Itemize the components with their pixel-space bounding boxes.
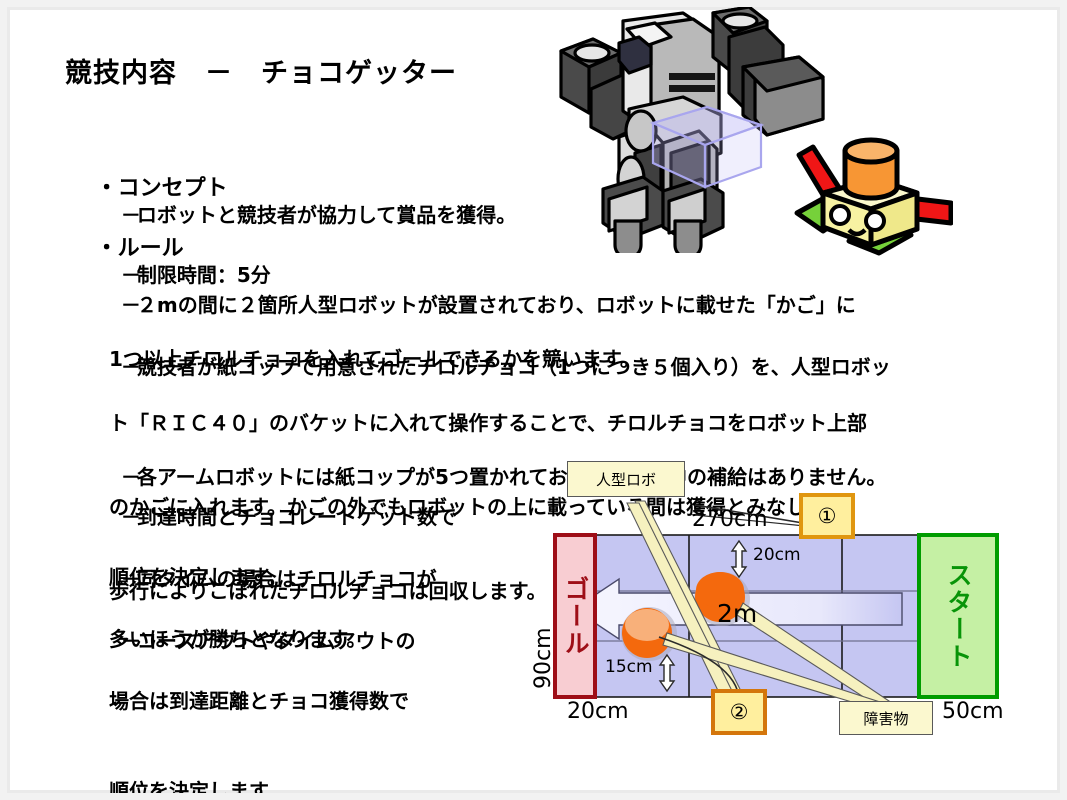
bullet-text: 到達時間とチョコレートゲット数で <box>137 505 457 529</box>
marker-1-label: ① <box>818 504 837 528</box>
bullet-text: 競技者が紙コップで用意されたチロルチョコ（1つにつき５個入り）を、人型ロボッ <box>137 355 891 379</box>
dash-marker: － <box>121 626 137 656</box>
bullet-text: 同タイムの場合はチロルチョコが <box>137 567 437 591</box>
dash-marker: － <box>121 292 137 319</box>
dimension-obstacle-top: 20cm <box>753 545 801 565</box>
course-diagram: ゴール スタート 人型ロボ 障害物 ① ② 270cm 90cm 20cm 15… <box>527 457 1067 757</box>
dimension-travel-distance: 2m <box>717 599 757 628</box>
page-title: 競技内容 － チョコゲッター <box>65 51 457 90</box>
marker-2-label: ② <box>730 700 749 724</box>
slide-canvas: 競技内容 － チョコゲッター ・コンセプト －ロボットと競技者が協力して賞品を獲… <box>0 0 1067 800</box>
humanoid-robot-callout: 人型ロボ <box>567 461 685 497</box>
start-block: スタート <box>917 533 999 699</box>
arm-robot-illustration <box>783 135 953 260</box>
bullet-text: ト「ＲＩＣ４０」のバケットに入れて操作することで、チロルチョコをロボット上部 <box>93 409 891 437</box>
dimension-start-width: 50cm <box>942 699 1004 724</box>
marker-1-box: ① <box>799 493 855 539</box>
rule-courseout: －コースアウトやタイムアウトの 場合は到達距離とチョコ獲得数で 順位を決定します… <box>93 596 415 800</box>
bullet-text: ロボットと競技者が協力して賞品を獲得。 <box>137 203 516 227</box>
marker-2-box: ② <box>711 689 767 735</box>
dimension-course-length: 270cm <box>692 507 768 532</box>
dash-marker: － <box>121 353 137 381</box>
bullet-text: ２mの間に２箇所人型ロボットが設置されており、ロボットに載せた「かご」に <box>137 293 856 317</box>
dash-marker: － <box>121 502 137 532</box>
bullet-text: 順位を決定します。 <box>93 776 415 800</box>
obstacle-callout: 障害物 <box>839 701 933 735</box>
bullet-text: コースアウトやタイムアウトの <box>137 629 416 653</box>
dimension-course-height: 90cm <box>531 539 556 689</box>
dimension-goal-width: 20cm <box>567 699 629 724</box>
bullet-text: 場合は到達距離とチョコ獲得数で <box>93 686 415 716</box>
dash-marker: － <box>121 564 137 594</box>
dimension-obstacle-bottom: 15cm <box>605 657 653 677</box>
goal-block: ゴール <box>553 533 597 699</box>
